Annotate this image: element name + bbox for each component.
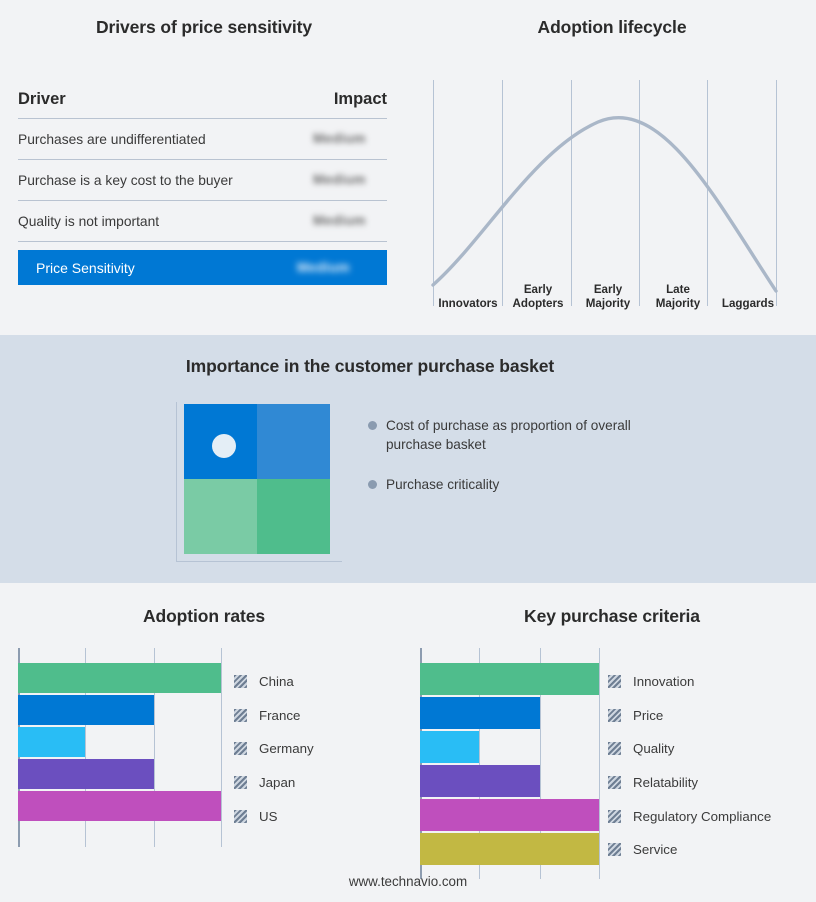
drivers-panel: Drivers of price sensitivity Driver Impa… (0, 0, 408, 335)
matrix-y-axis (176, 402, 177, 562)
bell-curve-path (433, 118, 776, 291)
table-row: Purchases are undifferentiated Medium (18, 119, 387, 160)
column-header-driver: Driver (18, 90, 66, 109)
legend-item: Japan (234, 766, 314, 800)
gridline (599, 648, 600, 879)
legend-item: Germany (234, 732, 314, 766)
bar-row (18, 663, 221, 693)
column-header-impact: Impact (334, 90, 387, 109)
bullet-dot-icon (368, 421, 377, 430)
adoption-rates-plot (18, 648, 221, 847)
legend-label: France (259, 708, 300, 723)
legend-item: Regulatory Compliance (608, 799, 771, 833)
legend-label: Regulatory Compliance (633, 809, 771, 824)
bar-row (18, 759, 221, 789)
bar-relatability (420, 765, 540, 797)
impact-value-wrap: Medium (313, 171, 387, 189)
bar-france (18, 695, 154, 725)
bar-quality (420, 731, 479, 763)
lifecycle-segment-late-majority: Late Majority (643, 271, 713, 311)
summary-impact-value: Medium (297, 260, 350, 275)
segment-line2: Innovators (433, 297, 503, 311)
price-sensitivity-summary-row: Price Sensitivity Medium (18, 250, 387, 285)
legend-label: Service (633, 842, 677, 857)
bar-germany (18, 727, 85, 757)
table-row: Quality is not important Medium (18, 201, 387, 242)
gridline (221, 648, 222, 847)
adoption-bars (18, 663, 221, 830)
legend-item: Price (608, 699, 771, 733)
bar-service (420, 833, 599, 865)
key-purchase-criteria-title: Key purchase criteria (408, 606, 816, 627)
legend-item: Purchase criticality (368, 475, 668, 494)
key-purchase-criteria-panel: Key purchase criteria InnovationPriceQua… (408, 583, 816, 902)
impact-value-wrap: Medium (313, 212, 387, 230)
segment-line2: Laggards (713, 297, 783, 311)
bar-row (18, 791, 221, 821)
legend-label: Quality (633, 741, 674, 756)
table-row: Purchase is a key cost to the buyer Medi… (18, 160, 387, 201)
driver-label: Purchases are undifferentiated (18, 132, 206, 147)
legend-label: US (259, 809, 277, 824)
impact-value: Medium (313, 172, 366, 187)
bar-regulatory-compliance (420, 799, 599, 831)
bar-row (18, 727, 221, 757)
importance-panel: Importance in the customer purchase bask… (0, 335, 816, 583)
adoption-lifecycle-panel: Adoption lifecycle Innovators (408, 0, 816, 335)
criteria-bars (420, 663, 599, 862)
legend-label: Price (633, 708, 663, 723)
impact-value: Medium (313, 213, 366, 228)
bar-row (420, 765, 599, 797)
hatch-swatch-icon (234, 776, 247, 789)
legend-label: China (259, 674, 294, 689)
legend-item: France (234, 699, 314, 733)
hatch-swatch-icon (608, 810, 621, 823)
segment-line2: Majority (643, 297, 713, 311)
lifecycle-segment-early-adopters: Early Adopters (503, 271, 573, 311)
adoption-rates-panel: Adoption rates ChinaFranceGermanyJapanUS (0, 583, 408, 902)
segment-line1: Early (503, 283, 573, 297)
segment-line1: Late (643, 283, 713, 297)
segment-line1: Early (573, 283, 643, 297)
key-purchase-criteria-legend: InnovationPriceQualityRelatabilityRegula… (608, 665, 771, 867)
bullet-dot-icon (368, 480, 377, 489)
legend-label: Innovation (633, 674, 694, 689)
driver-label: Purchase is a key cost to the buyer (18, 173, 233, 188)
lifecycle-segment-early-majority: Early Majority (573, 271, 643, 311)
lifecycle-title: Adoption lifecycle (408, 17, 816, 38)
legend-item: Quality (608, 732, 771, 766)
legend-label: Germany (259, 741, 314, 756)
lifecycle-segment-laggards: Laggards (713, 271, 783, 311)
legend-item: Innovation (608, 665, 771, 699)
drivers-table-header: Driver Impact (18, 90, 387, 119)
adoption-rates-title: Adoption rates (0, 606, 408, 627)
importance-title: Importance in the customer purchase bask… (0, 356, 740, 377)
driver-label: Quality is not important (18, 214, 159, 229)
drivers-table: Driver Impact Purchases are undifferenti… (18, 90, 387, 285)
segment-line2: Adopters (503, 297, 573, 311)
lifecycle-segment-innovators: Innovators (433, 271, 503, 311)
hatch-swatch-icon (234, 810, 247, 823)
infographic-page: Drivers of price sensitivity Driver Impa… (0, 0, 816, 902)
hatch-swatch-icon (234, 742, 247, 755)
bar-row (420, 799, 599, 831)
hatch-swatch-icon (608, 675, 621, 688)
hatch-swatch-icon (608, 742, 621, 755)
matrix-x-axis (176, 561, 342, 562)
bar-row (420, 697, 599, 729)
bar-china (18, 663, 221, 693)
legend-label: Japan (259, 775, 295, 790)
drivers-title: Drivers of price sensitivity (0, 17, 408, 38)
matrix-position-marker (212, 434, 236, 458)
hatch-swatch-icon (608, 843, 621, 856)
hatch-swatch-icon (608, 709, 621, 722)
footer-url: www.technavio.com (0, 874, 816, 889)
legend-item: Service (608, 833, 771, 867)
impact-value-wrap: Medium (313, 130, 387, 148)
legend-item: Relatability (608, 766, 771, 800)
bar-us (18, 791, 221, 821)
bar-japan (18, 759, 154, 789)
legend-item: Cost of purchase as proportion of overal… (368, 416, 668, 454)
impact-value: Medium (313, 131, 366, 146)
bar-row (420, 833, 599, 865)
hatch-swatch-icon (608, 776, 621, 789)
bar-price (420, 697, 540, 729)
bar-row (420, 663, 599, 695)
criteria-plot (420, 648, 599, 879)
importance-legend: Cost of purchase as proportion of overal… (368, 416, 668, 515)
matrix-quadrant-bottom-right (257, 479, 330, 554)
summary-label: Price Sensitivity (36, 260, 135, 276)
matrix-quadrant-top-right (257, 404, 330, 479)
summary-value-wrap: Medium (297, 259, 371, 277)
legend-item: US (234, 799, 314, 833)
hatch-swatch-icon (234, 709, 247, 722)
legend-label: Relatability (633, 775, 698, 790)
bar-row (420, 731, 599, 763)
lifecycle-segment-labels: Innovators Early Adopters Early Majority… (433, 271, 783, 311)
bar-innovation (420, 663, 599, 695)
adoption-rates-legend: ChinaFranceGermanyJapanUS (234, 665, 314, 833)
hatch-swatch-icon (234, 675, 247, 688)
legend-label: Cost of purchase as proportion of overal… (386, 416, 646, 454)
matrix-quadrant-bottom-left (184, 479, 257, 554)
bar-row (18, 695, 221, 725)
segment-line2: Majority (573, 297, 643, 311)
legend-item: China (234, 665, 314, 699)
importance-matrix (184, 404, 330, 554)
legend-label: Purchase criticality (386, 475, 499, 494)
